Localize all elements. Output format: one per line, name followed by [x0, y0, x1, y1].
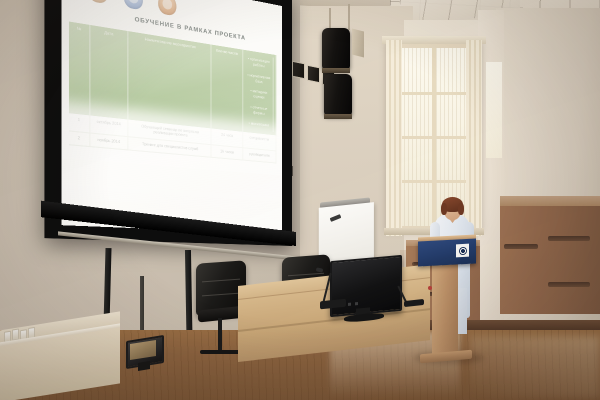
- projection-screen-surface: ОБУЧЕНИЕ В РАМКАХ ПРОЕКТА № Дата Наимено…: [62, 0, 282, 234]
- window-secondary: [486, 62, 502, 158]
- cell-hours: 16 часов: [212, 145, 243, 159]
- institution-emblem-icon: [456, 244, 469, 258]
- column-header-num: №: [69, 22, 90, 115]
- speaker-wall-bracket: [352, 29, 364, 58]
- column-header-event: Наименование мероприятия: [128, 31, 212, 128]
- emblem-3-icon: [158, 0, 176, 16]
- presenter-hair-side-right: [458, 203, 464, 215]
- cell-date: ноябрь 2014: [90, 134, 128, 150]
- office-chair-1-stem: [218, 318, 222, 352]
- cell-num: 1: [69, 113, 90, 133]
- cell-date: октябрь 2014: [90, 115, 128, 136]
- wainscot-slot-1: [548, 236, 590, 241]
- presenter-hair-side-left: [441, 203, 447, 215]
- presentation-slide: ОБУЧЕНИЕ В РАМКАХ ПРОЕКТА № Дата Наимено…: [62, 0, 282, 234]
- window-mullion-horizontal-3: [392, 180, 476, 183]
- window-mullion-horizontal-1: [392, 92, 476, 95]
- window-mullion-horizontal-2: [392, 136, 476, 139]
- wainscot-slot-3: [504, 244, 538, 249]
- cell-hours: 24 часа: [212, 128, 243, 147]
- office-chair-1-base: [200, 350, 242, 354]
- vertical-blind-left: [386, 40, 402, 236]
- podium-column: [432, 264, 458, 358]
- emblem-2-icon: [124, 0, 143, 10]
- conference-room-photo: ОБУЧЕНИЕ В РАМКАХ ПРОЕКТА № Дата Наимено…: [0, 0, 600, 400]
- vertical-blind-right: [466, 40, 482, 236]
- slide-bullet: • мониторинг: [245, 117, 274, 131]
- speaker-lip-upper: [322, 68, 350, 73]
- speaker-rod-2: [348, 4, 350, 30]
- wainscot-slot-2: [548, 282, 590, 287]
- ceiling-speaker-upper: [322, 28, 350, 70]
- floor-reflection-2: [470, 336, 600, 398]
- wall-grille-2: [307, 65, 320, 84]
- speaker-lip-lower: [324, 114, 352, 119]
- column-header-members: • организация работы• нормативная база• …: [243, 50, 276, 135]
- wall-grille-1: [292, 61, 305, 80]
- column-header-date: Дата: [90, 25, 128, 119]
- cell-members: руководители: [243, 148, 276, 162]
- emblem-1-icon: [88, 0, 108, 4]
- cell-num: 2: [69, 132, 90, 146]
- column-header-hours: Кол-во часов: [212, 45, 243, 132]
- cell-members: специалисты: [243, 131, 276, 150]
- wainscot-right: [500, 206, 600, 314]
- ceiling-speaker-lower: [324, 74, 352, 116]
- slide-table: № Дата Наименование мероприятия Кол-во ч…: [69, 22, 277, 164]
